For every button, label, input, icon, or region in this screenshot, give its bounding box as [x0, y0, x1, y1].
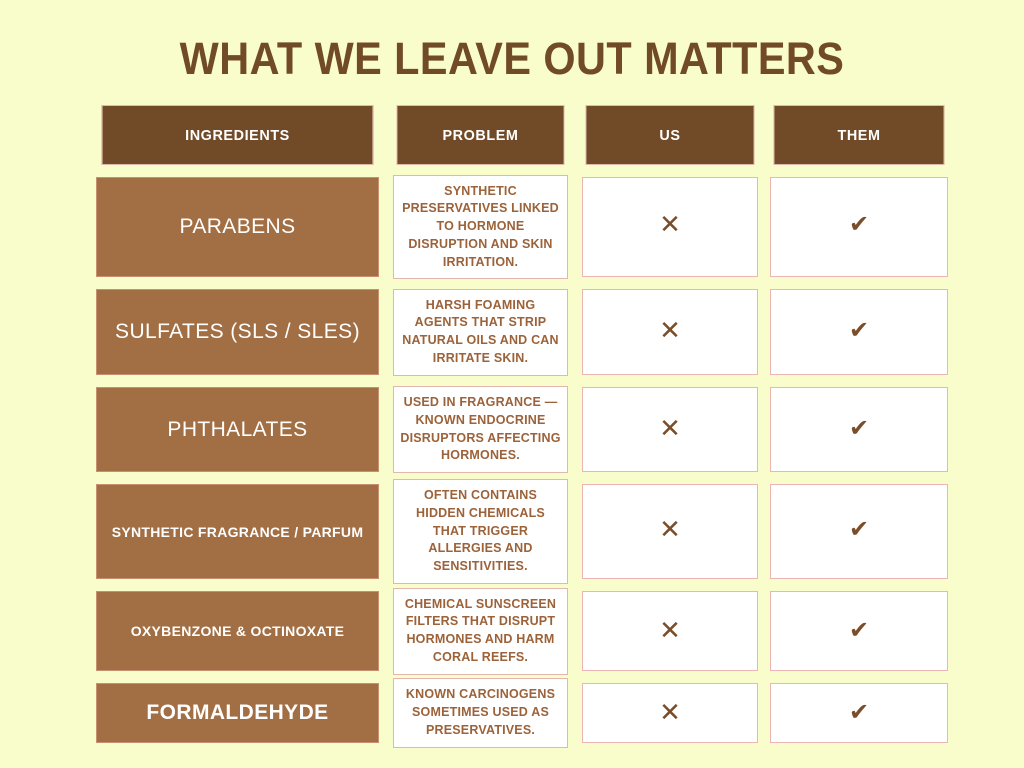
- problem-cell: SYNTHETIC PRESERVATIVES LINKED TO HORMON…: [393, 175, 568, 280]
- table-row: SYNTHETIC FRAGRANCE / PARFUM OFTEN CONTA…: [96, 484, 948, 579]
- check-icon: ✔: [849, 212, 869, 236]
- column-gap: [758, 591, 770, 671]
- column-gap: [758, 177, 770, 277]
- them-cell: ✔: [770, 591, 948, 671]
- cross-icon: ✕: [659, 618, 681, 644]
- check-icon: ✔: [849, 700, 869, 724]
- column-gap: [568, 387, 582, 472]
- column-gap: [758, 683, 770, 743]
- column-gap: [568, 591, 582, 671]
- cross-icon: ✕: [659, 517, 681, 543]
- problem-cell-wrap: SYNTHETIC PRESERVATIVES LINKED TO HORMON…: [393, 177, 568, 277]
- problem-cell: KNOWN CARCINOGENS SOMETIMES USED AS PRES…: [393, 678, 568, 747]
- table-row: FORMALDEHYDE KNOWN CARCINOGENS SOMETIMES…: [96, 683, 948, 743]
- table-row: SULFATES (SLS / SLES) HARSH FOAMING AGEN…: [96, 289, 948, 375]
- column-header-us: US: [586, 105, 755, 165]
- page-title: WHAT WE LEAVE OUT MATTERS: [41, 0, 983, 81]
- them-cell: ✔: [770, 683, 948, 743]
- problem-cell-wrap: USED IN FRAGRANCE — KNOWN ENDOCRINE DISR…: [393, 387, 568, 472]
- us-cell: ✕: [582, 289, 758, 375]
- table-row: PHTHALATES USED IN FRAGRANCE — KNOWN END…: [96, 387, 948, 472]
- column-gap: [758, 387, 770, 472]
- them-cell: ✔: [770, 387, 948, 472]
- column-gap: [758, 105, 770, 165]
- ingredient-cell: OXYBENZONE & OCTINOXATE: [96, 591, 379, 671]
- column-gap: [568, 105, 582, 165]
- poster: WHAT WE LEAVE OUT MATTERS INGREDIENTS PR…: [0, 0, 1024, 768]
- problem-cell: USED IN FRAGRANCE — KNOWN ENDOCRINE DISR…: [393, 386, 568, 473]
- ingredient-cell: PHTHALATES: [96, 387, 379, 472]
- problem-cell: OFTEN CONTAINS HIDDEN CHEMICALS THAT TRI…: [393, 479, 568, 584]
- cross-icon: ✕: [659, 212, 681, 238]
- them-cell: ✔: [770, 177, 948, 277]
- column-gap: [379, 591, 393, 671]
- check-icon: ✔: [849, 517, 869, 541]
- column-gap: [379, 387, 393, 472]
- us-cell: ✕: [582, 387, 758, 472]
- them-cell: ✔: [770, 484, 948, 579]
- problem-cell: CHEMICAL SUNSCREEN FILTERS THAT DISRUPT …: [393, 588, 568, 675]
- ingredient-cell: SULFATES (SLS / SLES): [96, 289, 379, 375]
- column-gap: [379, 177, 393, 277]
- problem-cell-wrap: HARSH FOAMING AGENTS THAT STRIP NATURAL …: [393, 289, 568, 375]
- column-gap: [568, 484, 582, 579]
- column-gap: [379, 484, 393, 579]
- us-cell: ✕: [582, 484, 758, 579]
- ingredient-cell: PARABENS: [96, 177, 379, 277]
- table-row: OXYBENZONE & OCTINOXATE CHEMICAL SUNSCRE…: [96, 591, 948, 671]
- problem-cell-wrap: OFTEN CONTAINS HIDDEN CHEMICALS THAT TRI…: [393, 484, 568, 579]
- column-gap: [379, 105, 393, 165]
- column-header-problem: PROBLEM: [397, 105, 565, 165]
- ingredient-cell: SYNTHETIC FRAGRANCE / PARFUM: [96, 484, 379, 579]
- cross-icon: ✕: [659, 416, 681, 442]
- cross-icon: ✕: [659, 318, 681, 344]
- us-cell: ✕: [582, 177, 758, 277]
- check-icon: ✔: [849, 318, 869, 342]
- problem-cell-wrap: CHEMICAL SUNSCREEN FILTERS THAT DISRUPT …: [393, 591, 568, 671]
- table-row: PARABENS SYNTHETIC PRESERVATIVES LINKED …: [96, 177, 948, 277]
- column-gap: [758, 289, 770, 375]
- column-gap: [379, 683, 393, 743]
- column-gap: [379, 289, 393, 375]
- problem-cell-wrap: KNOWN CARCINOGENS SOMETIMES USED AS PRES…: [393, 683, 568, 743]
- check-icon: ✔: [849, 618, 869, 642]
- column-header-them: THEM: [774, 105, 945, 165]
- problem-cell: HARSH FOAMING AGENTS THAT STRIP NATURAL …: [393, 289, 568, 376]
- check-icon: ✔: [849, 416, 869, 440]
- column-gap: [568, 177, 582, 277]
- us-cell: ✕: [582, 591, 758, 671]
- table-header-row: INGREDIENTS PROBLEM US THEM: [96, 105, 948, 165]
- column-gap: [568, 289, 582, 375]
- column-gap: [758, 484, 770, 579]
- cross-icon: ✕: [659, 700, 681, 726]
- them-cell: ✔: [770, 289, 948, 375]
- column-gap: [568, 683, 582, 743]
- us-cell: ✕: [582, 683, 758, 743]
- comparison-table: INGREDIENTS PROBLEM US THEM PARABENS SYN…: [96, 105, 948, 743]
- column-header-ingredients: INGREDIENTS: [102, 105, 374, 165]
- ingredient-cell: FORMALDEHYDE: [96, 683, 379, 743]
